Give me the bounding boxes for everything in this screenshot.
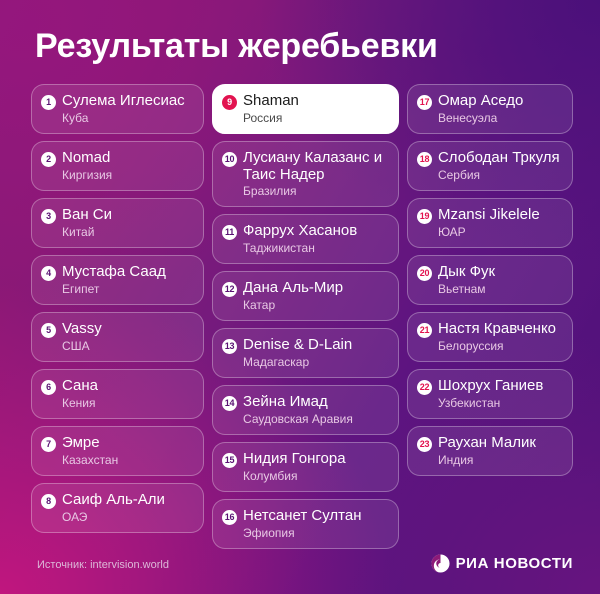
draw-number-badge: 1 <box>41 95 56 110</box>
participant-country: Вьетнам <box>417 282 563 296</box>
participant-names: Саиф Аль-Али <box>62 491 194 508</box>
participant-card[interactable]: 19Mzansi JikeleleЮАР <box>407 198 573 248</box>
participant-card-head: 17Омар Аседо <box>417 92 563 110</box>
participant-names: Дык Фук <box>438 263 563 280</box>
participants-grid: 1Сулема ИглесиасКуба2NomadКиргизия3Ван С… <box>31 84 573 549</box>
draw-number-badge: 5 <box>41 323 56 338</box>
participant-names: Нидия Гонгора <box>243 450 389 467</box>
participant-card[interactable]: 10Лусиану Калазанс и Таис НадерБразилия <box>212 141 399 207</box>
draw-number-badge: 23 <box>417 437 432 452</box>
participant-card[interactable]: 1Сулема ИглесиасКуба <box>31 84 204 134</box>
ria-spiral-icon <box>431 554 450 573</box>
draw-number-badge: 15 <box>222 453 237 468</box>
participant-country: Китай <box>41 225 194 239</box>
participant-card-head: 16Нетсанет Султан <box>222 507 389 525</box>
participant-card-head: 6Сана <box>41 377 194 395</box>
draw-number-badge: 12 <box>222 282 237 297</box>
participant-card-head: 3Ван Си <box>41 206 194 224</box>
draw-number-badge: 22 <box>417 380 432 395</box>
participant-card[interactable]: 21Настя КравченкоБелоруссия <box>407 312 573 362</box>
participant-names: Омар Аседо <box>438 92 563 109</box>
ria-novosti-logo: РИА НОВОСТИ <box>431 554 573 573</box>
participant-name: Эмре <box>62 434 194 451</box>
participant-name: Шохрух Ганиев <box>438 377 563 394</box>
participant-card[interactable]: 6СанаКения <box>31 369 204 419</box>
participant-names: Сулема Иглесиас <box>62 92 194 109</box>
participant-country: Колумбия <box>222 469 389 483</box>
participant-country: Белоруссия <box>417 339 563 353</box>
footer: Источник: intervision.world РИА НОВОСТИ <box>0 554 600 576</box>
draw-number-badge: 8 <box>41 494 56 509</box>
draw-number-badge: 19 <box>417 209 432 224</box>
participant-card[interactable]: 11Фаррух ХасановТаджикистан <box>212 214 399 264</box>
participant-name: Зейна Имад <box>243 393 389 410</box>
participant-name: Vassy <box>62 320 194 337</box>
participant-name: Denise & D-Lain <box>243 336 389 353</box>
participant-country: Венесуэла <box>417 111 563 125</box>
draw-number-badge: 3 <box>41 209 56 224</box>
participant-card-head: 8Саиф Аль-Али <box>41 491 194 509</box>
page-title: Результаты жеребьевки <box>35 26 438 66</box>
participant-country: Куба <box>41 111 194 125</box>
participant-names: Nomad <box>62 149 194 166</box>
participant-country: Узбекистан <box>417 396 563 410</box>
draw-number-badge: 18 <box>417 152 432 167</box>
participant-names: Лусиану Калазанс и Таис Надер <box>243 149 389 183</box>
participant-names: Мустафа Саад <box>62 263 194 280</box>
participant-card[interactable]: 2NomadКиргизия <box>31 141 204 191</box>
participant-country: Эфиопия <box>222 526 389 540</box>
draw-number-badge: 13 <box>222 339 237 354</box>
source-credit: Источник: intervision.world <box>37 558 169 572</box>
participant-card[interactable]: 12Дана Аль-МирКатар <box>212 271 399 321</box>
participant-card-head: 11Фаррух Хасанов <box>222 222 389 240</box>
participant-name: Фаррух Хасанов <box>243 222 389 239</box>
participants-column-2: 9ShamanРоссия10Лусиану Калазанс и Таис Н… <box>212 84 399 549</box>
participant-card-head: 23Раухан Малик <box>417 434 563 452</box>
participant-country: ОАЭ <box>41 510 194 524</box>
draw-number-badge: 6 <box>41 380 56 395</box>
draw-number-badge: 10 <box>222 152 237 167</box>
participant-country: Киргизия <box>41 168 194 182</box>
participant-name: Лусиану Калазанс и Таис Надер <box>243 149 389 183</box>
draw-number-badge: 20 <box>417 266 432 281</box>
participant-names: Фаррух Хасанов <box>243 222 389 239</box>
draw-number-badge: 14 <box>222 396 237 411</box>
participant-name: Shaman <box>243 92 389 109</box>
participant-names: Сана <box>62 377 194 394</box>
participant-card-head: 15Нидия Гонгора <box>222 450 389 468</box>
participant-card[interactable]: 16Нетсанет СултанЭфиопия <box>212 499 399 549</box>
participant-card[interactable]: 3Ван СиКитай <box>31 198 204 248</box>
participant-card[interactable]: 17Омар АседоВенесуэла <box>407 84 573 134</box>
participant-card-head: 1Сулема Иглесиас <box>41 92 194 110</box>
participant-country: Россия <box>222 111 389 125</box>
draw-number-badge: 16 <box>222 510 237 525</box>
participant-name: Нидия Гонгора <box>243 450 389 467</box>
participant-names: Denise & D-Lain <box>243 336 389 353</box>
participant-names: Нетсанет Султан <box>243 507 389 524</box>
participant-names: Раухан Малик <box>438 434 563 451</box>
participant-card[interactable]: 14Зейна ИмадСаудовская Аравия <box>212 385 399 435</box>
participants-column-3: 17Омар АседоВенесуэла18Слободан ТркуляСе… <box>407 84 573 476</box>
participant-card-head: 10Лусиану Калазанс и Таис Надер <box>222 149 389 183</box>
participant-name: Дана Аль-Мир <box>243 279 389 296</box>
draw-number-badge: 17 <box>417 95 432 110</box>
participants-column-1: 1Сулема ИглесиасКуба2NomadКиргизия3Ван С… <box>31 84 204 533</box>
draw-number-badge: 11 <box>222 225 237 240</box>
participant-names: Слободан Тркуля <box>438 149 563 166</box>
participant-names: Shaman <box>243 92 389 109</box>
participant-name: Сана <box>62 377 194 394</box>
participant-card[interactable]: 8Саиф Аль-АлиОАЭ <box>31 483 204 533</box>
participant-card-head: 18Слободан Тркуля <box>417 149 563 167</box>
participant-country: Сербия <box>417 168 563 182</box>
participant-names: Настя Кравченко <box>438 320 563 337</box>
participant-country: Саудовская Аравия <box>222 412 389 426</box>
participant-card-head: 7Эмре <box>41 434 194 452</box>
participant-country: Мадагаскар <box>222 355 389 369</box>
participant-card[interactable]: 9ShamanРоссия <box>212 84 399 134</box>
participant-card[interactable]: 15Нидия ГонгораКолумбия <box>212 442 399 492</box>
participant-card-head: 21Настя Кравченко <box>417 320 563 338</box>
participant-name: Омар Аседо <box>438 92 563 109</box>
participant-card-head: 22Шохрух Ганиев <box>417 377 563 395</box>
infographic-poster: Результаты жеребьевки 1Сулема ИглесиасКу… <box>0 0 600 594</box>
draw-number-badge: 4 <box>41 266 56 281</box>
participant-name: Мустафа Саад <box>62 263 194 280</box>
participant-country: Индия <box>417 453 563 467</box>
participant-card-head: 13Denise & D-Lain <box>222 336 389 354</box>
participant-card-head: 12Дана Аль-Мир <box>222 279 389 297</box>
participant-names: Vassy <box>62 320 194 337</box>
draw-number-badge: 21 <box>417 323 432 338</box>
participant-names: Mzansi Jikelele <box>438 206 563 223</box>
brand-name: РИА НОВОСТИ <box>456 555 573 572</box>
participant-names: Дана Аль-Мир <box>243 279 389 296</box>
draw-number-badge: 7 <box>41 437 56 452</box>
participant-card-head: 9Shaman <box>222 92 389 110</box>
participant-country: Катар <box>222 298 389 312</box>
participant-names: Зейна Имад <box>243 393 389 410</box>
participant-card[interactable]: 20Дык ФукВьетнам <box>407 255 573 305</box>
participant-country: ЮАР <box>417 225 563 239</box>
participant-name: Дык Фук <box>438 263 563 280</box>
participant-names: Ван Си <box>62 206 194 223</box>
participant-country: Бразилия <box>222 184 389 198</box>
participant-names: Шохрух Ганиев <box>438 377 563 394</box>
participant-name: Mzansi Jikelele <box>438 206 563 223</box>
participant-card[interactable]: 23Раухан МаликИндия <box>407 426 573 476</box>
participant-country: Кения <box>41 396 194 410</box>
participant-card-head: 4Мустафа Саад <box>41 263 194 281</box>
participant-name: Раухан Малик <box>438 434 563 451</box>
draw-number-badge: 2 <box>41 152 56 167</box>
participant-name: Сулема Иглесиас <box>62 92 194 109</box>
participant-name: Настя Кравченко <box>438 320 563 337</box>
participant-name: Нетсанет Султан <box>243 507 389 524</box>
participant-names: Эмре <box>62 434 194 451</box>
participant-name: Саиф Аль-Али <box>62 491 194 508</box>
participant-card[interactable]: 18Слободан ТркуляСербия <box>407 141 573 191</box>
participant-card-head: 14Зейна Имад <box>222 393 389 411</box>
participant-card-head: 20Дык Фук <box>417 263 563 281</box>
participant-country: Египет <box>41 282 194 296</box>
participant-card[interactable]: 4Мустафа СаадЕгипет <box>31 255 204 305</box>
participant-card-head: 19Mzansi Jikelele <box>417 206 563 224</box>
participant-card[interactable]: 13Denise & D-LainМадагаскар <box>212 328 399 378</box>
participant-card-head: 2Nomad <box>41 149 194 167</box>
participant-card-head: 5Vassy <box>41 320 194 338</box>
draw-number-badge: 9 <box>222 95 237 110</box>
participant-card[interactable]: 7ЭмреКазахстан <box>31 426 204 476</box>
participant-name: Слободан Тркуля <box>438 149 563 166</box>
participant-name: Ван Си <box>62 206 194 223</box>
participant-card[interactable]: 22Шохрух ГаниевУзбекистан <box>407 369 573 419</box>
participant-country: Таджикистан <box>222 241 389 255</box>
participant-country: США <box>41 339 194 353</box>
participant-card[interactable]: 5VassyСША <box>31 312 204 362</box>
participant-name: Nomad <box>62 149 194 166</box>
participant-country: Казахстан <box>41 453 194 467</box>
